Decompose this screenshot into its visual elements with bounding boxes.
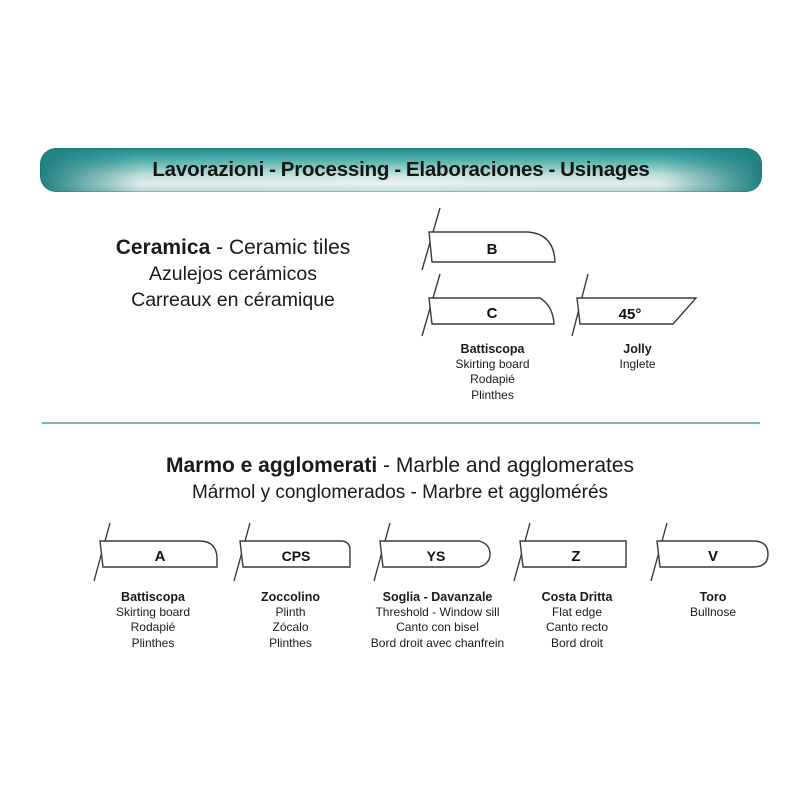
banner-separator-3: - — [543, 158, 560, 182]
profile-marble-ys-code: YS — [427, 548, 446, 564]
header-banner-fill: Lavorazioni-Processing-Elaboraciones-Usi… — [40, 148, 762, 192]
caption-soglia-davanzale: Soglia - Davanzale Threshold - Window si… — [345, 589, 530, 651]
profile-marble-a-drawing: A — [88, 521, 228, 583]
caption-battiscopa-ceramic-title: Battiscopa — [415, 341, 570, 357]
profile-ceramic-c-code: C — [487, 305, 498, 322]
marmo-heading-en: Marble and agglomerates — [396, 454, 634, 477]
profile-ceramic-c: C — [418, 272, 568, 338]
caption-costa-dritta-en: Flat edge — [512, 605, 642, 620]
profile-ceramic-b-drawing: B — [418, 206, 568, 272]
profile-marble-v-code: V — [708, 548, 718, 565]
caption-toro-en: Bullnose — [648, 605, 778, 620]
caption-battiscopa-marble-en: Skirting board — [78, 605, 228, 620]
banner-part-4: Usinages — [560, 158, 650, 181]
banner-separator-2: - — [389, 158, 406, 182]
marmo-heading: Marmo e agglomerati - Marble and agglome… — [0, 452, 800, 506]
ceramica-heading-fr: Carreaux en céramique — [93, 288, 373, 314]
profile-marble-ys-drawing: YS — [368, 521, 508, 583]
ceramica-heading-es: Azulejos cerámicos — [93, 262, 373, 288]
caption-battiscopa-marble: Battiscopa Skirting board Rodapié Plinth… — [78, 589, 228, 651]
marmo-heading-it: Marmo e agglomerati — [166, 454, 377, 477]
caption-zoccolino-es: Zócalo — [218, 620, 363, 635]
caption-costa-dritta-fr: Bord droit — [512, 636, 642, 651]
ceramica-heading-en: Ceramic tiles — [229, 236, 350, 259]
caption-battiscopa-marble-fr: Plinthes — [78, 636, 228, 651]
profile-marble-a: A — [88, 521, 228, 583]
banner-separator-1: - — [264, 158, 281, 182]
caption-jolly-title: Jolly — [575, 341, 700, 357]
caption-jolly: Jolly Inglete — [575, 341, 700, 372]
profile-marble-a-code: A — [155, 548, 166, 565]
caption-battiscopa-ceramic-en: Skirting board — [415, 357, 570, 372]
profile-marble-z: Z — [508, 521, 648, 583]
caption-battiscopa-ceramic: Battiscopa Skirting board Rodapié Plinth… — [415, 341, 570, 403]
ceramica-heading: Ceramica - Ceramic tiles Azulejos cerámi… — [93, 234, 373, 314]
caption-zoccolino-title: Zoccolino — [218, 589, 363, 605]
profile-marble-v-drawing: V — [645, 521, 785, 583]
banner-part-3: Elaboraciones — [406, 158, 544, 181]
caption-soglia-davanzale-fr: Bord droit avec chanfrein — [345, 636, 530, 651]
header-banner: Lavorazioni-Processing-Elaboraciones-Usi… — [40, 148, 762, 192]
caption-soglia-davanzale-es: Canto con bisel — [345, 620, 530, 635]
profile-ceramic-b: B — [418, 206, 568, 272]
ceramica-heading-dash: - — [216, 236, 223, 259]
caption-toro: Toro Bullnose — [648, 589, 778, 620]
section-divider — [42, 422, 760, 424]
profile-marble-v: V — [645, 521, 785, 583]
caption-battiscopa-ceramic-fr: Plinthes — [415, 388, 570, 403]
profile-ceramic-b-code: B — [487, 241, 498, 258]
profile-ceramic-jolly-code: 45° — [619, 306, 642, 323]
banner-part-2: Processing — [281, 158, 390, 181]
caption-soglia-davanzale-en: Threshold - Window sill — [345, 605, 530, 620]
caption-costa-dritta-title: Costa Dritta — [512, 589, 642, 605]
caption-costa-dritta-es: Canto recto — [512, 620, 642, 635]
profile-marble-ys: YS — [368, 521, 508, 583]
ceramica-heading-line1: Ceramica - Ceramic tiles — [93, 234, 373, 262]
page-title: Lavorazioni-Processing-Elaboraciones-Usi… — [152, 158, 649, 182]
caption-battiscopa-ceramic-es: Rodapié — [415, 372, 570, 387]
profile-marble-cps-code: CPS — [282, 548, 311, 564]
caption-zoccolino-fr: Plinthes — [218, 636, 363, 651]
caption-zoccolino: Zoccolino Plinth Zócalo Plinthes — [218, 589, 363, 651]
marmo-heading-dash: - — [383, 454, 390, 477]
banner-part-1: Lavorazioni — [152, 158, 264, 181]
marmo-heading-line2: Mármol y conglomerados - Marbre et agglo… — [0, 480, 800, 506]
profile-ceramic-c-drawing: C — [418, 272, 568, 338]
caption-battiscopa-marble-es: Rodapié — [78, 620, 228, 635]
profile-ceramic-jolly-drawing: 45° — [568, 272, 708, 338]
profile-marble-z-drawing: Z — [508, 521, 648, 583]
caption-soglia-davanzale-title: Soglia - Davanzale — [345, 589, 530, 605]
profile-ceramic-jolly: 45° — [568, 272, 708, 338]
marmo-heading-line1: Marmo e agglomerati - Marble and agglome… — [0, 452, 800, 480]
profile-marble-cps: CPS — [228, 521, 368, 583]
ceramica-heading-it: Ceramica — [116, 236, 211, 259]
caption-toro-title: Toro — [648, 589, 778, 605]
caption-battiscopa-marble-title: Battiscopa — [78, 589, 228, 605]
profile-marble-z-code: Z — [571, 548, 580, 565]
profile-marble-cps-drawing: CPS — [228, 521, 368, 583]
caption-jolly-en: Inglete — [575, 357, 700, 372]
caption-zoccolino-en: Plinth — [218, 605, 363, 620]
caption-costa-dritta: Costa Dritta Flat edge Canto recto Bord … — [512, 589, 642, 651]
